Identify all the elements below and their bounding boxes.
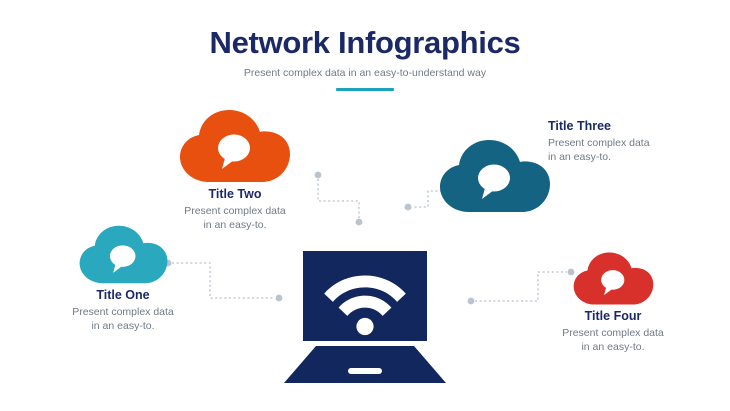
node-three-title: Title Three — [548, 118, 728, 134]
page-subtitle: Present complex data in an easy-to-under… — [0, 66, 730, 80]
node-one-desc-line2: in an easy-to. — [42, 319, 204, 333]
laptop-touchpad — [348, 368, 382, 374]
connector-two-to-center — [313, 170, 373, 228]
center-laptop[interactable] — [276, 251, 454, 392]
slide-canvas: Network Infographics Present complex dat… — [0, 0, 730, 411]
node-three[interactable]: Title Three Present complex data in an e… — [438, 138, 552, 214]
node-one[interactable]: Title One Present complex data in an eas… — [78, 224, 169, 285]
node-four-title: Title Four — [532, 308, 694, 324]
laptop-base — [284, 346, 446, 383]
node-four-text: Title Four Present complex data in an ea… — [532, 308, 694, 354]
connector-four-to-center — [466, 266, 578, 308]
node-two-desc-line2: in an easy-to. — [154, 218, 316, 232]
node-one-desc-line1: Present complex data — [42, 305, 204, 319]
node-three-desc-line1: Present complex data — [548, 136, 728, 150]
page-title: Network Infographics — [0, 24, 730, 62]
node-two[interactable]: Title Two Present complex data in an eas… — [178, 108, 292, 184]
node-two-desc-line1: Present complex data — [154, 204, 316, 218]
accent-divider — [336, 88, 394, 91]
node-three-text: Title Three Present complex data in an e… — [548, 118, 728, 164]
cloud-chat-icon — [78, 224, 169, 285]
node-one-title: Title One — [42, 287, 204, 303]
node-four-desc-line1: Present complex data — [532, 326, 694, 340]
header: Network Infographics Present complex dat… — [0, 24, 730, 91]
node-four-desc-line2: in an easy-to. — [532, 340, 694, 354]
node-two-title: Title Two — [154, 186, 316, 202]
node-four[interactable]: Title Four Present complex data in an ea… — [572, 251, 655, 306]
cloud-chat-icon — [572, 251, 655, 306]
node-one-text: Title One Present complex data in an eas… — [42, 287, 204, 333]
cloud-chat-icon — [438, 138, 552, 214]
node-two-text: Title Two Present complex data in an eas… — [154, 186, 316, 232]
node-three-desc-line2: in an easy-to. — [548, 150, 728, 164]
laptop-icon — [276, 251, 454, 387]
cloud-chat-icon — [178, 108, 292, 184]
